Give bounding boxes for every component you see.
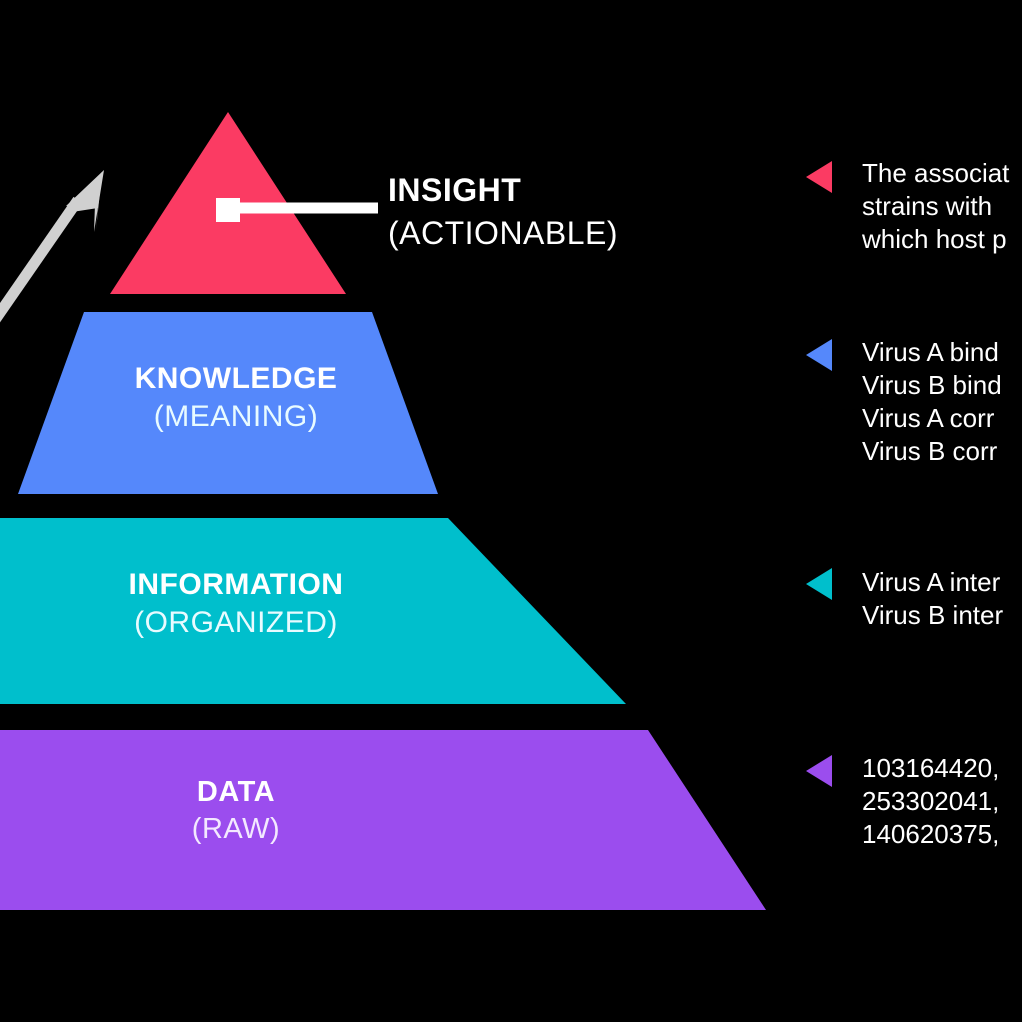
insight-square-marker <box>216 198 240 222</box>
annotation-knowledge: Virus A bind Virus B bind Virus A corr V… <box>862 336 1022 468</box>
annotation-line: The associat <box>862 157 1022 190</box>
annotation-line: Virus A bind <box>862 336 1022 369</box>
annotation-line: Virus A inter <box>862 566 1022 599</box>
annotation-line: Virus B inter <box>862 599 1022 632</box>
annotation-marker-knowledge-icon <box>806 339 832 371</box>
pyramid-layer-knowledge[interactable] <box>18 312 438 494</box>
dikw-pyramid <box>0 0 1022 1022</box>
annotation-line: 253302041, <box>862 785 1022 818</box>
annotation-line: 103164420, <box>862 752 1022 785</box>
annotation-marker-information-icon <box>806 568 832 600</box>
annotation-marker-insight-icon <box>806 161 832 193</box>
pyramid-layer-information[interactable] <box>0 518 626 704</box>
annotation-line: strains with <box>862 190 1022 223</box>
annotation-line: Virus A corr <box>862 402 1022 435</box>
insight-callout-label: INSIGHT (ACTIONABLE) <box>388 174 618 249</box>
annotation-data: 103164420, 253302041, 140620375, <box>862 752 1022 851</box>
annotation-line: Virus B bind <box>862 369 1022 402</box>
annotation-line: 140620375, <box>862 818 1022 851</box>
annotation-insight: The associat strains with which host p <box>862 157 1022 256</box>
diagram-canvas: INSIGHT (ACTIONABLE) KNOWLEDGE (MEANING)… <box>0 0 1022 1022</box>
annotation-information: Virus A inter Virus B inter <box>862 566 1022 632</box>
insight-subtitle: (ACTIONABLE) <box>388 217 618 249</box>
annotation-line: Virus B corr <box>862 435 1022 468</box>
annotation-marker-data-icon <box>806 755 832 787</box>
insight-title: INSIGHT <box>388 174 618 206</box>
value-arrow-icon <box>0 170 104 330</box>
annotation-line: which host p <box>862 223 1022 256</box>
pyramid-layer-data[interactable] <box>0 730 766 910</box>
